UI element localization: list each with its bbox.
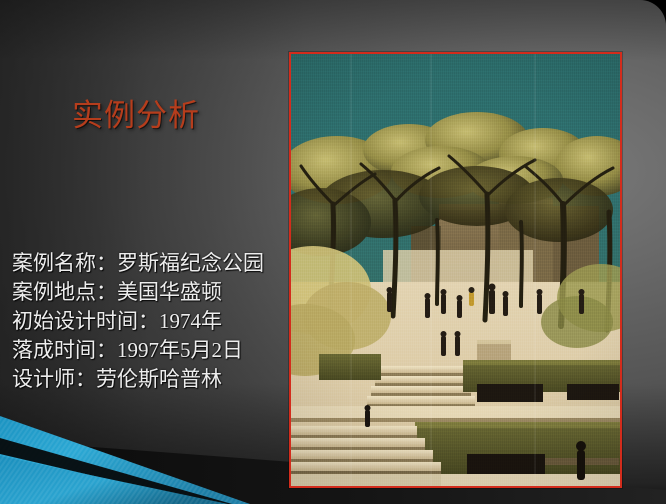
body-line-completion: 落成时间：1997年5月2日 [12,337,288,365]
body-line-location: 案例地点：美国华盛顿 [12,279,288,307]
slide-body-text: 案例名称：罗斯福纪念公园 案例地点：美国华盛顿 初始设计时间：1974年 落成时… [12,250,288,395]
body-line-design-year: 初始设计时间：1974年 [12,308,288,336]
body-line-case-name: 案例名称：罗斯福纪念公园 [12,250,288,278]
slide-photo [289,52,622,488]
body-line-designer: 设计师：劳伦斯哈普林 [12,366,288,394]
slide-title: 实例分析 [72,100,200,131]
presentation-slide: 实例分析 案例名称：罗斯福纪念公园 案例地点：美国华盛顿 初始设计时间：1974… [0,0,666,504]
